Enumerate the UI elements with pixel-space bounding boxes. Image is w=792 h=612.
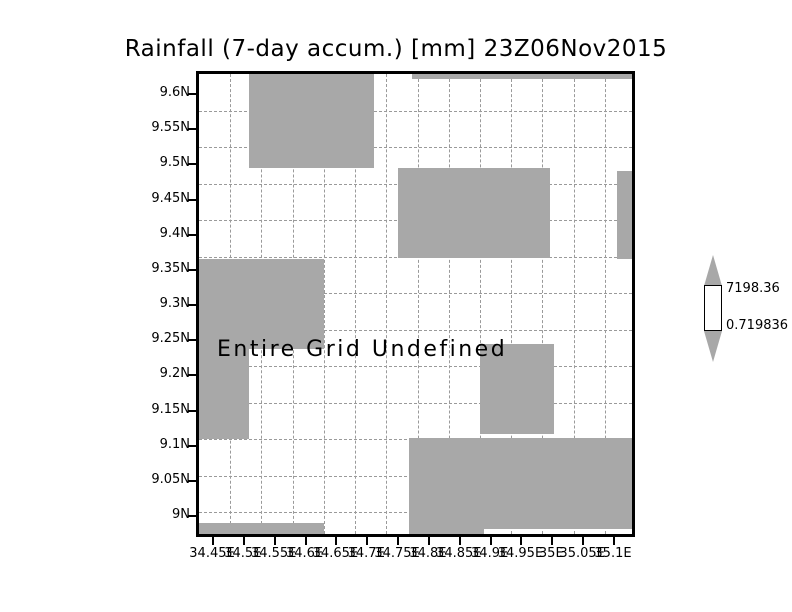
x-axis-tick xyxy=(551,537,553,545)
undefined-region xyxy=(249,74,374,168)
x-axis-tick-label: 34.95E xyxy=(498,546,543,561)
x-axis-tick xyxy=(243,537,245,545)
gridline-horizontal xyxy=(199,366,632,367)
x-axis-tick xyxy=(274,537,276,545)
undefined-region xyxy=(412,74,632,79)
colorbar-min-arrow-icon xyxy=(704,331,722,362)
y-axis-tick-label: 9N xyxy=(172,507,190,522)
grads-plot-window: Rainfall (7-day accum.) [mm] 23Z06Nov201… xyxy=(0,0,792,612)
y-axis-tick-label: 9.25N xyxy=(151,331,190,346)
colorbar-max-arrow-icon xyxy=(704,255,722,286)
y-axis-tick-label: 9.55N xyxy=(151,120,190,135)
colorbar-legend[interactable]: 7198.36 0.719836 xyxy=(700,255,726,363)
x-axis-tick xyxy=(428,537,430,545)
y-axis-tick-label: 9.2N xyxy=(160,366,190,381)
x-axis-tick xyxy=(212,537,214,545)
x-axis-tick xyxy=(305,537,307,545)
undefined-region xyxy=(199,259,324,349)
undefined-region xyxy=(617,171,632,259)
x-axis-tick-label: 35.1E xyxy=(594,546,631,561)
undefined-region xyxy=(398,168,550,258)
x-axis-tick xyxy=(397,537,399,545)
x-axis-tick xyxy=(613,537,615,545)
y-axis-tick-label: 9.05N xyxy=(151,472,190,487)
y-axis-tick-label: 9.6N xyxy=(160,85,190,100)
colorbar-min-label: 0.719836 xyxy=(726,318,788,333)
x-axis-tick xyxy=(459,537,461,545)
undefined-region xyxy=(199,349,249,439)
gridline-vertical xyxy=(386,74,387,534)
entire-grid-undefined-label: Entire Grid Undefined xyxy=(217,337,507,362)
undefined-region xyxy=(199,523,324,534)
colorbar-box xyxy=(704,285,722,331)
x-axis-tick xyxy=(366,537,368,545)
x-axis-tick xyxy=(490,537,492,545)
gridline-horizontal xyxy=(199,403,632,404)
x-axis-tick xyxy=(335,537,337,545)
y-axis-tick-label: 9.3N xyxy=(160,296,190,311)
y-axis-tick-label: 9.15N xyxy=(151,402,190,417)
x-axis-tick xyxy=(582,537,584,545)
plot-area[interactable]: Entire Grid Undefined xyxy=(196,71,635,537)
undefined-region xyxy=(409,438,632,529)
y-axis-tick-label: 9.5N xyxy=(160,155,190,170)
y-axis-tick-label: 9.35N xyxy=(151,261,190,276)
plot-canvas: Entire Grid Undefined xyxy=(199,74,632,534)
y-axis-tick-label: 9.45N xyxy=(151,191,190,206)
y-axis-tick-label: 9.1N xyxy=(160,437,190,452)
colorbar-max-label: 7198.36 xyxy=(726,281,780,296)
page-title: Rainfall (7-day accum.) [mm] 23Z06Nov201… xyxy=(0,36,792,62)
y-axis-tick-label: 9.4N xyxy=(160,226,190,241)
undefined-region xyxy=(409,523,484,534)
x-axis-tick xyxy=(520,537,522,545)
